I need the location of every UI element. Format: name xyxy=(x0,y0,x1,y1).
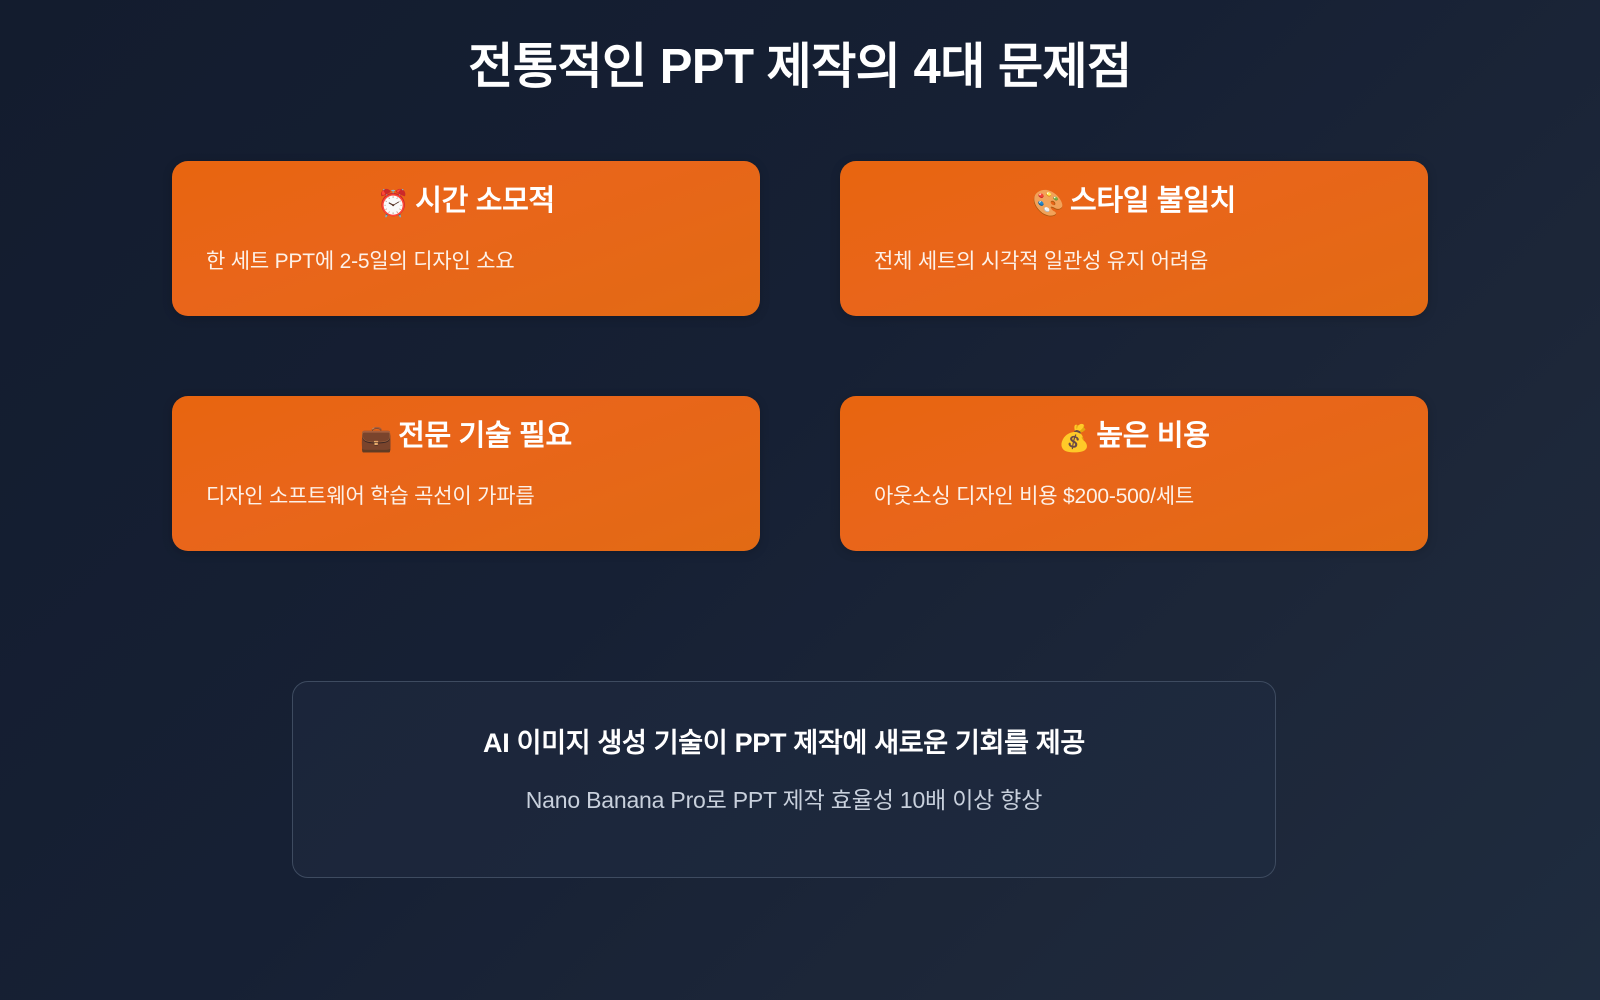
problem-card-heading: 높은 비용 xyxy=(1096,420,1209,452)
page-title: 전통적인 PPT 제작의 4대 문제점 xyxy=(468,38,1131,97)
money-bag-icon: 💰 xyxy=(1058,423,1090,453)
problem-card-heading: 시간 소모적 xyxy=(415,185,555,217)
briefcase-icon: 💼 xyxy=(360,423,392,453)
problem-card-body: 아웃소싱 디자인 비용 $200-500/세트 xyxy=(874,483,1394,511)
slide-root: 전통적인 PPT 제작의 4대 문제점 ⏰시간 소모적 한 세트 PPT에 2-… xyxy=(0,0,1600,1000)
problem-card-heading: 전문 기술 필요 xyxy=(398,420,572,452)
alarm-clock-icon: ⏰ xyxy=(377,188,409,218)
problem-card-skill[interactable]: 💼전문 기술 필요 디자인 소프트웨어 학습 곡선이 가파름 xyxy=(172,396,760,551)
solution-callout-panel: AI 이미지 생성 기술이 PPT 제작에 새로운 기회를 제공 Nano Ba… xyxy=(292,681,1276,878)
artist-palette-icon: 🎨 xyxy=(1032,188,1064,218)
problem-card-cost[interactable]: 💰높은 비용 아웃소싱 디자인 비용 $200-500/세트 xyxy=(840,396,1428,551)
problem-card-heading-row: 💰높은 비용 xyxy=(874,418,1394,455)
problem-card-body: 디자인 소프트웨어 학습 곡선이 가파름 xyxy=(206,483,726,511)
problem-card-body: 한 세트 PPT에 2-5일의 디자인 소요 xyxy=(206,248,726,276)
problem-card-time[interactable]: ⏰시간 소모적 한 세트 PPT에 2-5일의 디자인 소요 xyxy=(172,161,760,316)
problem-card-heading-row: 🎨스타일 불일치 xyxy=(874,183,1394,220)
callout-subtitle: Nano Banana Pro로 PPT 제작 효율성 10배 이상 향상 xyxy=(526,786,1042,816)
callout-title: AI 이미지 생성 기술이 PPT 제작에 새로운 기회를 제공 xyxy=(483,726,1085,761)
problem-card-heading-row: ⏰시간 소모적 xyxy=(206,183,726,220)
problem-card-heading: 스타일 불일치 xyxy=(1070,185,1236,217)
problem-card-grid: ⏰시간 소모적 한 세트 PPT에 2-5일의 디자인 소요 🎨스타일 불일치 … xyxy=(172,161,1428,551)
problem-card-body: 전체 세트의 시각적 일관성 유지 어려움 xyxy=(874,248,1394,276)
problem-card-heading-row: 💼전문 기술 필요 xyxy=(206,418,726,455)
problem-card-style[interactable]: 🎨스타일 불일치 전체 세트의 시각적 일관성 유지 어려움 xyxy=(840,161,1428,316)
